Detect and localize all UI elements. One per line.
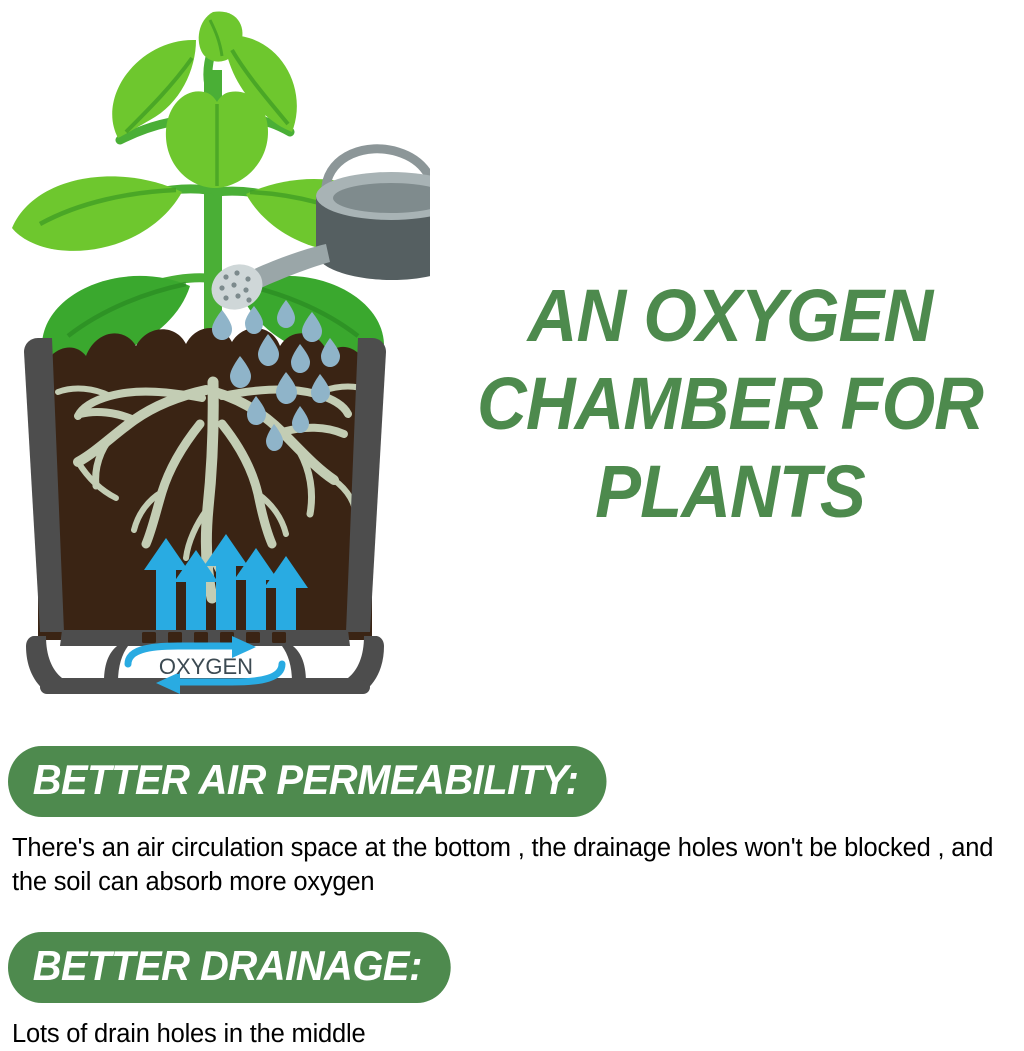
feature-banner-drainage: BETTER DRAINAGE:: [8, 932, 450, 1003]
hero-section: OXYGEN: [0, 0, 1024, 730]
feature-banner-air-permeability: BETTER AIR PERMEABILITY:: [8, 746, 607, 817]
feature-air-permeability: BETTER AIR PERMEABILITY: There's an air …: [0, 746, 1024, 899]
headline-line-1: AN OXYGEN: [460, 272, 999, 360]
oxygen-label: OXYGEN: [159, 654, 253, 679]
potted-plant-illustration: OXYGEN: [0, 0, 430, 720]
headline-line-3: PLANTS: [460, 448, 999, 536]
feature-drainage: BETTER DRAINAGE: Lots of drain holes in …: [0, 932, 1024, 1051]
feature-body-air-permeability: There's an air circulation space at the …: [12, 831, 1024, 899]
feature-body-drainage: Lots of drain holes in the middle: [12, 1017, 1024, 1051]
headline-line-2: CHAMBER FOR: [460, 360, 999, 448]
page-title: AN OXYGEN CHAMBER FOR PLANTS: [460, 272, 999, 536]
